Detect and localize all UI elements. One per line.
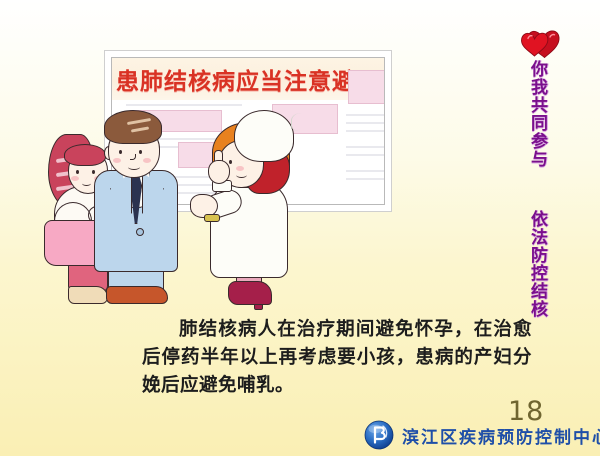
man-hair-highlight bbox=[131, 126, 149, 132]
poster-text-line bbox=[346, 154, 385, 156]
man-mouth bbox=[128, 164, 140, 170]
doctor-cheek bbox=[236, 166, 244, 171]
two-hearts-icon bbox=[520, 26, 566, 60]
poster-title: 患肺结核病应当注意避孕 bbox=[116, 62, 380, 96]
poster-text-line bbox=[346, 178, 385, 180]
man-eye-left bbox=[119, 150, 122, 154]
man-eye-right bbox=[139, 150, 142, 154]
poster-text-line bbox=[346, 122, 385, 124]
poster-text-line bbox=[126, 104, 242, 106]
nurse-cap-fold bbox=[291, 113, 318, 131]
nurse-cap-icon bbox=[234, 110, 294, 162]
bjcdc-circle-b-logo-icon bbox=[364, 420, 394, 450]
woman-mouth bbox=[82, 181, 91, 186]
footer-organization: 滨江区疾病预防控制中心 bbox=[364, 420, 600, 450]
doctor-wristwatch-icon bbox=[204, 214, 220, 222]
campaign-slogan-block: 你我共同参与 依法防控结核 bbox=[520, 26, 572, 256]
organization-name: 滨江区疾病预防控制中心 bbox=[402, 423, 600, 448]
woman-cheek-left bbox=[71, 176, 79, 181]
man-cheek-left bbox=[113, 158, 121, 163]
man-cheek-right bbox=[143, 158, 151, 163]
woman-eye-left bbox=[76, 170, 79, 174]
poster-text-line bbox=[346, 170, 385, 172]
body-paragraph: 肺结核病人在治疗期间避免怀孕，在治愈后停药半年以上再考虑要小孩，患病的产妇分娩后… bbox=[142, 316, 532, 400]
doctor-figure bbox=[196, 118, 300, 308]
man-hair-highlight bbox=[127, 118, 151, 125]
poster-image-block bbox=[348, 70, 385, 104]
poster-text-line bbox=[346, 146, 385, 148]
doctor-eye bbox=[229, 160, 232, 164]
doctor-mouth bbox=[236, 172, 247, 178]
poster-text-line bbox=[346, 130, 385, 132]
doctor-hand-pointing bbox=[208, 160, 230, 184]
slogan-vertical-text: 你我共同参与 依法防控结核 bbox=[528, 60, 546, 318]
man-jacket-button bbox=[136, 228, 144, 236]
slide-canvas: 患肺结核病应当注意避孕 bbox=[0, 0, 600, 456]
doctor-shoe bbox=[228, 281, 272, 305]
man-hair bbox=[104, 110, 162, 144]
poster-title-band: 患肺结核病应当注意避孕 bbox=[112, 58, 384, 100]
poster-text-line bbox=[346, 114, 385, 116]
man-figure bbox=[92, 110, 180, 306]
man-shoe bbox=[106, 286, 168, 304]
